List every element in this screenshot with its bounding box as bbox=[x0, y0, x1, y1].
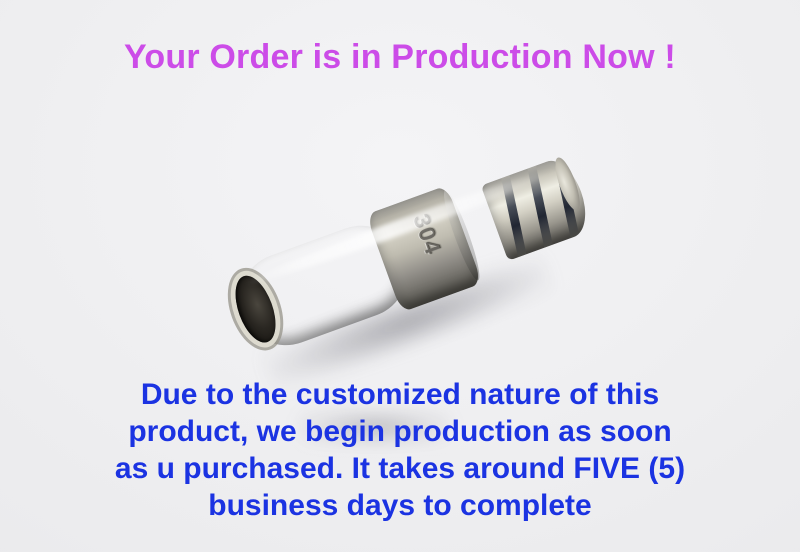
product-photo: 304 bbox=[0, 110, 800, 375]
promo-banner: Your Order is in Production Now ! 304 bbox=[0, 0, 800, 552]
notice-line: Due to the customized nature of this bbox=[0, 376, 800, 413]
notice-line: business days to complete bbox=[0, 487, 800, 524]
notice-line: product, we begin production as soon bbox=[0, 413, 800, 450]
headline-order-status: Your Order is in Production Now ! bbox=[0, 38, 800, 77]
material-grade-stamp: 304 bbox=[407, 210, 447, 258]
fitting-body: 304 bbox=[225, 144, 595, 363]
barb-groove bbox=[528, 166, 553, 248]
hose-barb-fitting: 304 bbox=[232, 148, 592, 358]
notice-line: as u purchased. It takes around FIVE (5) bbox=[0, 450, 800, 487]
barb-groove bbox=[501, 175, 526, 257]
production-notice: Due to the customized nature of this pro… bbox=[0, 376, 800, 524]
